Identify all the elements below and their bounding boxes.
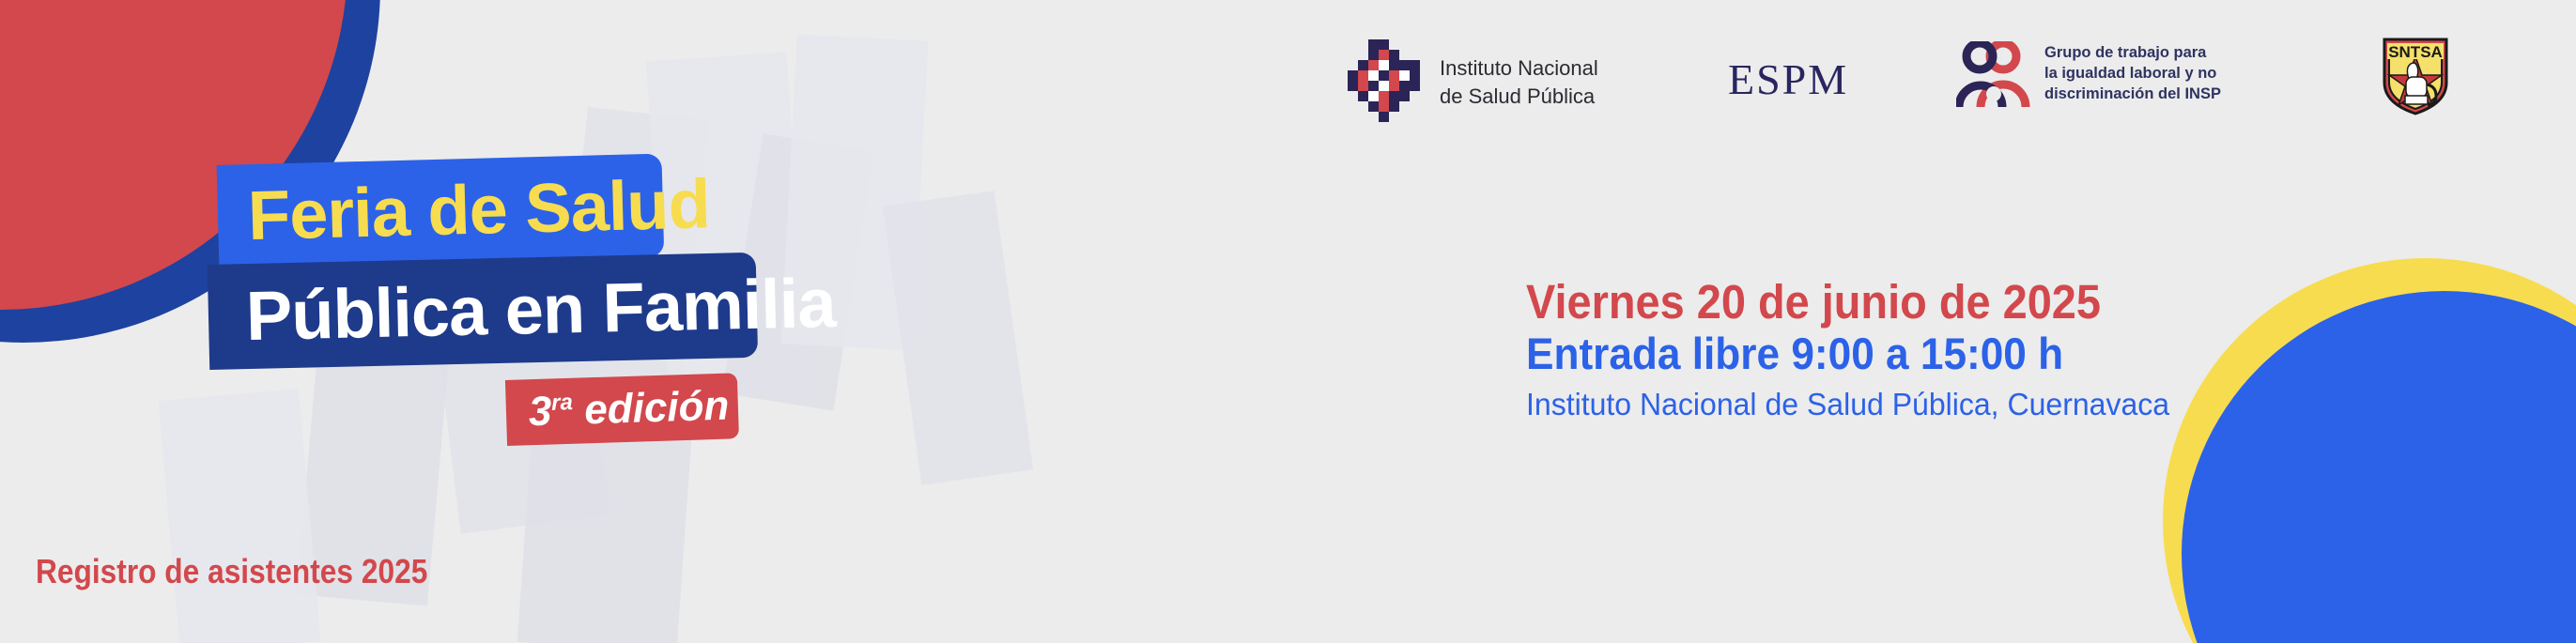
logo-espm: ESPM (1728, 54, 1848, 104)
title-band-line1: Feria de Salud (217, 154, 665, 268)
event-venue: Instituto Nacional de Salud Pública, Cue… (1526, 384, 2437, 426)
grupo-logo-text: Grupo de trabajo para la igualdad labora… (2044, 43, 2221, 104)
sntsa-wordmark: SNTSA (2388, 43, 2443, 61)
edition-ordinal: ra (551, 390, 574, 416)
event-banner: Feria de Salud Pública en Familia 3ra ed… (0, 0, 2576, 643)
espm-wordmark-icon: ESPM (1728, 54, 1848, 104)
sntsa-shield-fist-star-icon: SNTSA (2381, 36, 2450, 116)
event-date: Viernes 20 de junio de 2025 (1526, 276, 2390, 328)
logo-insp: Instituto Nacional de Salud Pública (1348, 39, 1598, 126)
grupo-logo-line2: la igualdad laboral y no (2044, 64, 2221, 84)
event-hours: Entrada libre 9:00 a 15:00 h (1526, 328, 2409, 379)
edition-number: 3 (528, 388, 552, 435)
insp-logo-line1: Instituto Nacional (1440, 54, 1598, 83)
edition-word: edición (584, 383, 730, 434)
insp-logo-text: Instituto Nacional de Salud Pública (1440, 54, 1598, 110)
insp-pixel-cross-icon (1348, 39, 1425, 126)
registration-note: Registro de asistentes 2025 (36, 552, 427, 591)
title-band-line2: Pública en Familia (208, 253, 758, 370)
logo-sntsa: SNTSA (2381, 36, 2450, 116)
logo-row: Instituto Nacional de Salud Pública ESPM (1348, 34, 2531, 137)
logo-grupo-igualdad: Grupo de trabajo para la igualdad labora… (1956, 41, 2221, 107)
edition-badge-text: 3ra edición (528, 386, 730, 434)
title-line1-text: Feria de Salud (247, 169, 711, 251)
title-line2-text: Pública en Familia (245, 268, 836, 351)
two-figures-icon (1956, 41, 2031, 107)
grupo-logo-line1: Grupo de trabajo para (2044, 43, 2221, 64)
event-info: Viernes 20 de junio de 2025 Entrada libr… (1526, 276, 2465, 425)
grupo-logo-line3: discriminación del INSP (2044, 84, 2221, 105)
insp-logo-line2: de Salud Pública (1440, 83, 1598, 111)
edition-badge: 3ra edición (505, 373, 739, 446)
